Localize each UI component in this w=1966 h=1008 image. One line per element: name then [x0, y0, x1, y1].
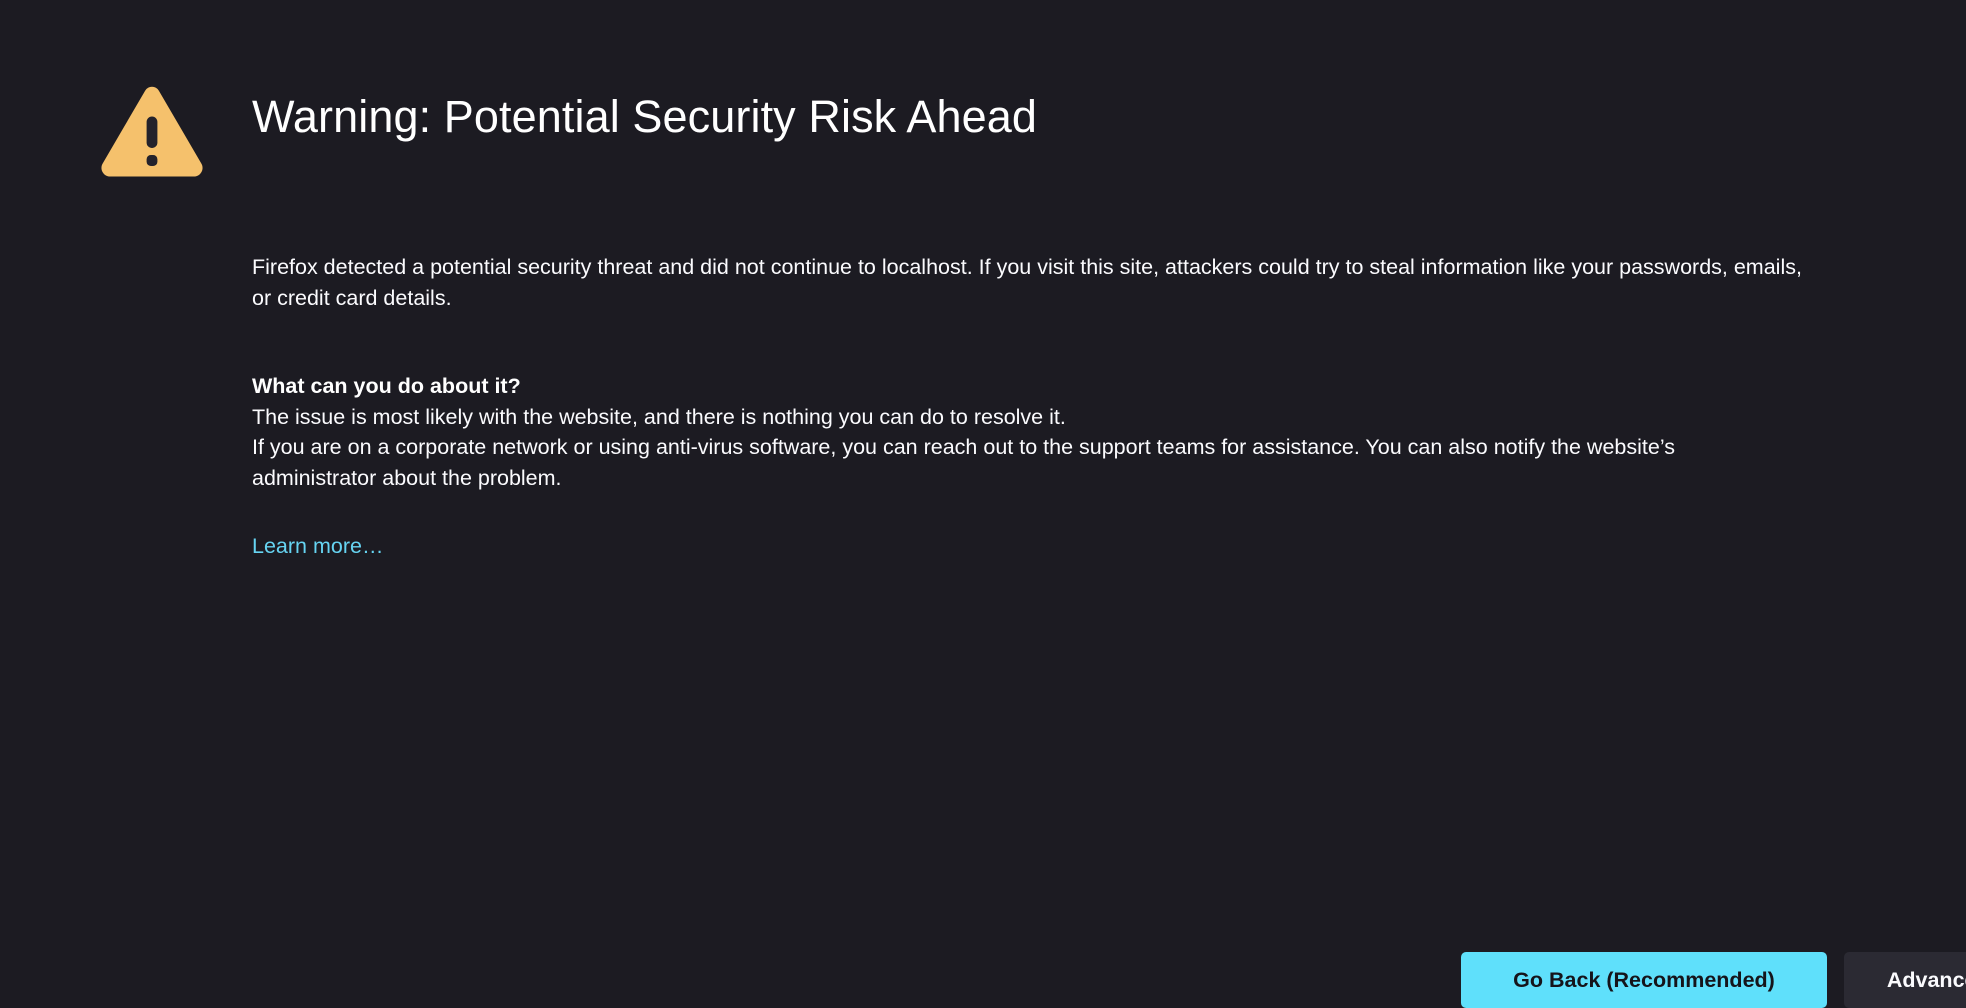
warning-header: Warning: Potential Security Risk Ahead: [252, 0, 1802, 150]
advanced-button[interactable]: Advanced…: [1844, 952, 1966, 1008]
intro-paragraph: Firefox detected a potential security th…: [252, 252, 1804, 313]
what-can-you-do-subheading: What can you do about it?: [252, 371, 1804, 402]
warning-content: Warning: Potential Security Risk Ahead: [252, 0, 1802, 150]
security-warning-page: Warning: Potential Security Risk Ahead F…: [0, 0, 1966, 912]
warning-triangle-icon: [100, 85, 204, 180]
learn-more-link[interactable]: Learn more…: [252, 531, 383, 562]
action-button-row: Go Back (Recommended) Advanced…: [252, 952, 1966, 1008]
resolve-paragraph: The issue is most likely with the websit…: [252, 402, 1804, 433]
warning-body: Firefox detected a potential security th…: [252, 252, 1804, 562]
corporate-network-paragraph: If you are on a corporate network or usi…: [252, 432, 1804, 493]
go-back-button[interactable]: Go Back (Recommended): [1461, 952, 1827, 1008]
page-title: Warning: Potential Security Risk Ahead: [252, 91, 1037, 143]
